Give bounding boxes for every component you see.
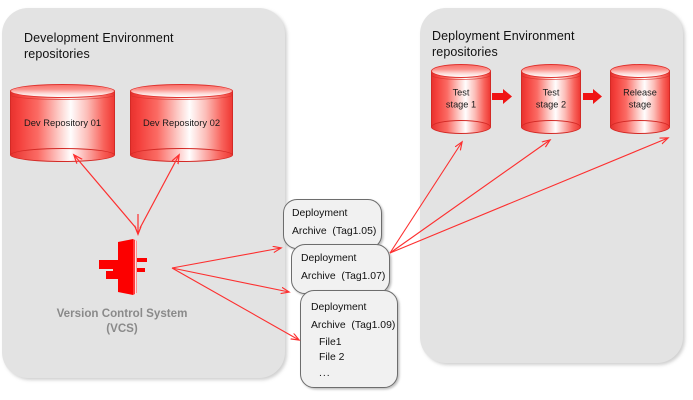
archive-title-line: Deployment: [301, 252, 356, 265]
deployment-environment-title: Deployment Environment repositories: [432, 28, 632, 60]
archive-title-line: Deployment: [311, 301, 366, 314]
cylinder-bottom: [130, 148, 233, 162]
dev-repository-02-label: Dev Repository 02: [130, 117, 233, 129]
release-stage-cylinder[interactable]: Release stage: [610, 64, 670, 134]
test-stage-2-label: Test stage 2: [521, 88, 581, 111]
deployment-environment-panel: [420, 8, 683, 363]
cylinder-bottom: [10, 148, 115, 162]
deployment-archive-tag105-card[interactable]: Deployment Archive (Tag1.05): [283, 199, 382, 249]
archive-file-2: File 2: [319, 351, 344, 364]
release-stage-label: Release stage: [610, 88, 670, 111]
cylinder-rim: [10, 90, 115, 100]
deployment-archive-tag107-card[interactable]: Deployment Archive (Tag1.07): [291, 244, 390, 294]
dev-repository-01-label: Dev Repository 01: [10, 117, 115, 129]
cylinder-bottom: [431, 120, 491, 134]
archive-tag-line: Archive (Tag1.05): [292, 225, 376, 238]
cylinder-rim: [521, 70, 581, 80]
archive-tag-line: Archive (Tag1.09): [311, 319, 395, 332]
test-stage-2-cylinder[interactable]: Test stage 2: [521, 64, 581, 134]
test-stage-1-cylinder[interactable]: Test stage 1: [431, 64, 491, 134]
version-control-system-icon[interactable]: [99, 238, 147, 298]
cylinder-rim: [431, 70, 491, 80]
diagram-canvas: Development Environment repositories Dep…: [0, 0, 693, 400]
cylinder-bottom: [521, 120, 581, 134]
deployment-archive-tag109-card[interactable]: Deployment Archive (Tag1.09) File1 File …: [300, 290, 398, 388]
archive-title-line: Deployment: [292, 207, 347, 220]
development-environment-title: Development Environment repositories: [24, 30, 224, 62]
cylinder-rim: [130, 90, 233, 100]
dev-repository-02-cylinder[interactable]: Dev Repository 02: [130, 84, 233, 162]
cylinder-rim: [610, 70, 670, 80]
cylinder-bottom: [610, 120, 670, 134]
archive-file-1: File1: [319, 336, 342, 349]
test-stage-1-label: Test stage 1: [431, 88, 491, 111]
dev-repository-01-cylinder[interactable]: Dev Repository 01: [10, 84, 115, 162]
archive-tag-line: Archive (Tag1.07): [301, 270, 385, 283]
archive-file-ellipsis: ...: [319, 367, 331, 380]
version-control-system-label: Version Control System (VCS): [22, 306, 222, 336]
